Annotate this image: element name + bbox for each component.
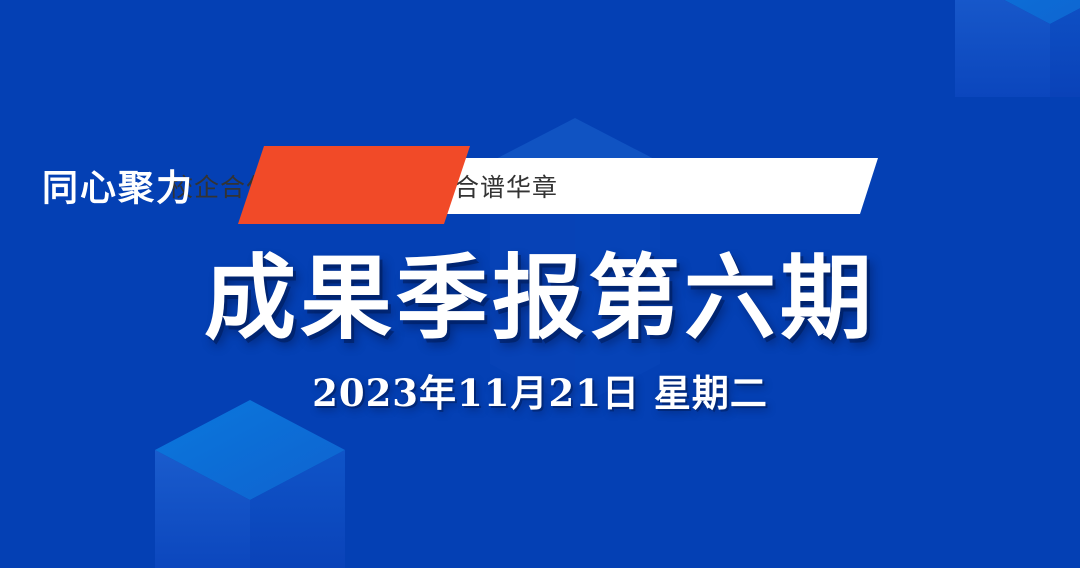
cube-bottom-left-icon (155, 398, 345, 568)
banner-tag-plate (238, 146, 470, 224)
banner-tag-text: 同心聚力 (0, 146, 232, 224)
page-title: 成果季报第六期 (0, 246, 1080, 350)
poster-canvas: 校企合作结硕果，产教融合谱华章 同心聚力 成果季报第六期 2023年11月21日… (0, 0, 1080, 568)
headline-banner: 校企合作结硕果，产教融合谱华章 同心聚力 (0, 146, 1080, 226)
publication-date: 2023年11月21日 星期二 (0, 370, 1080, 416)
cube-top-right-icon (955, 0, 1080, 97)
